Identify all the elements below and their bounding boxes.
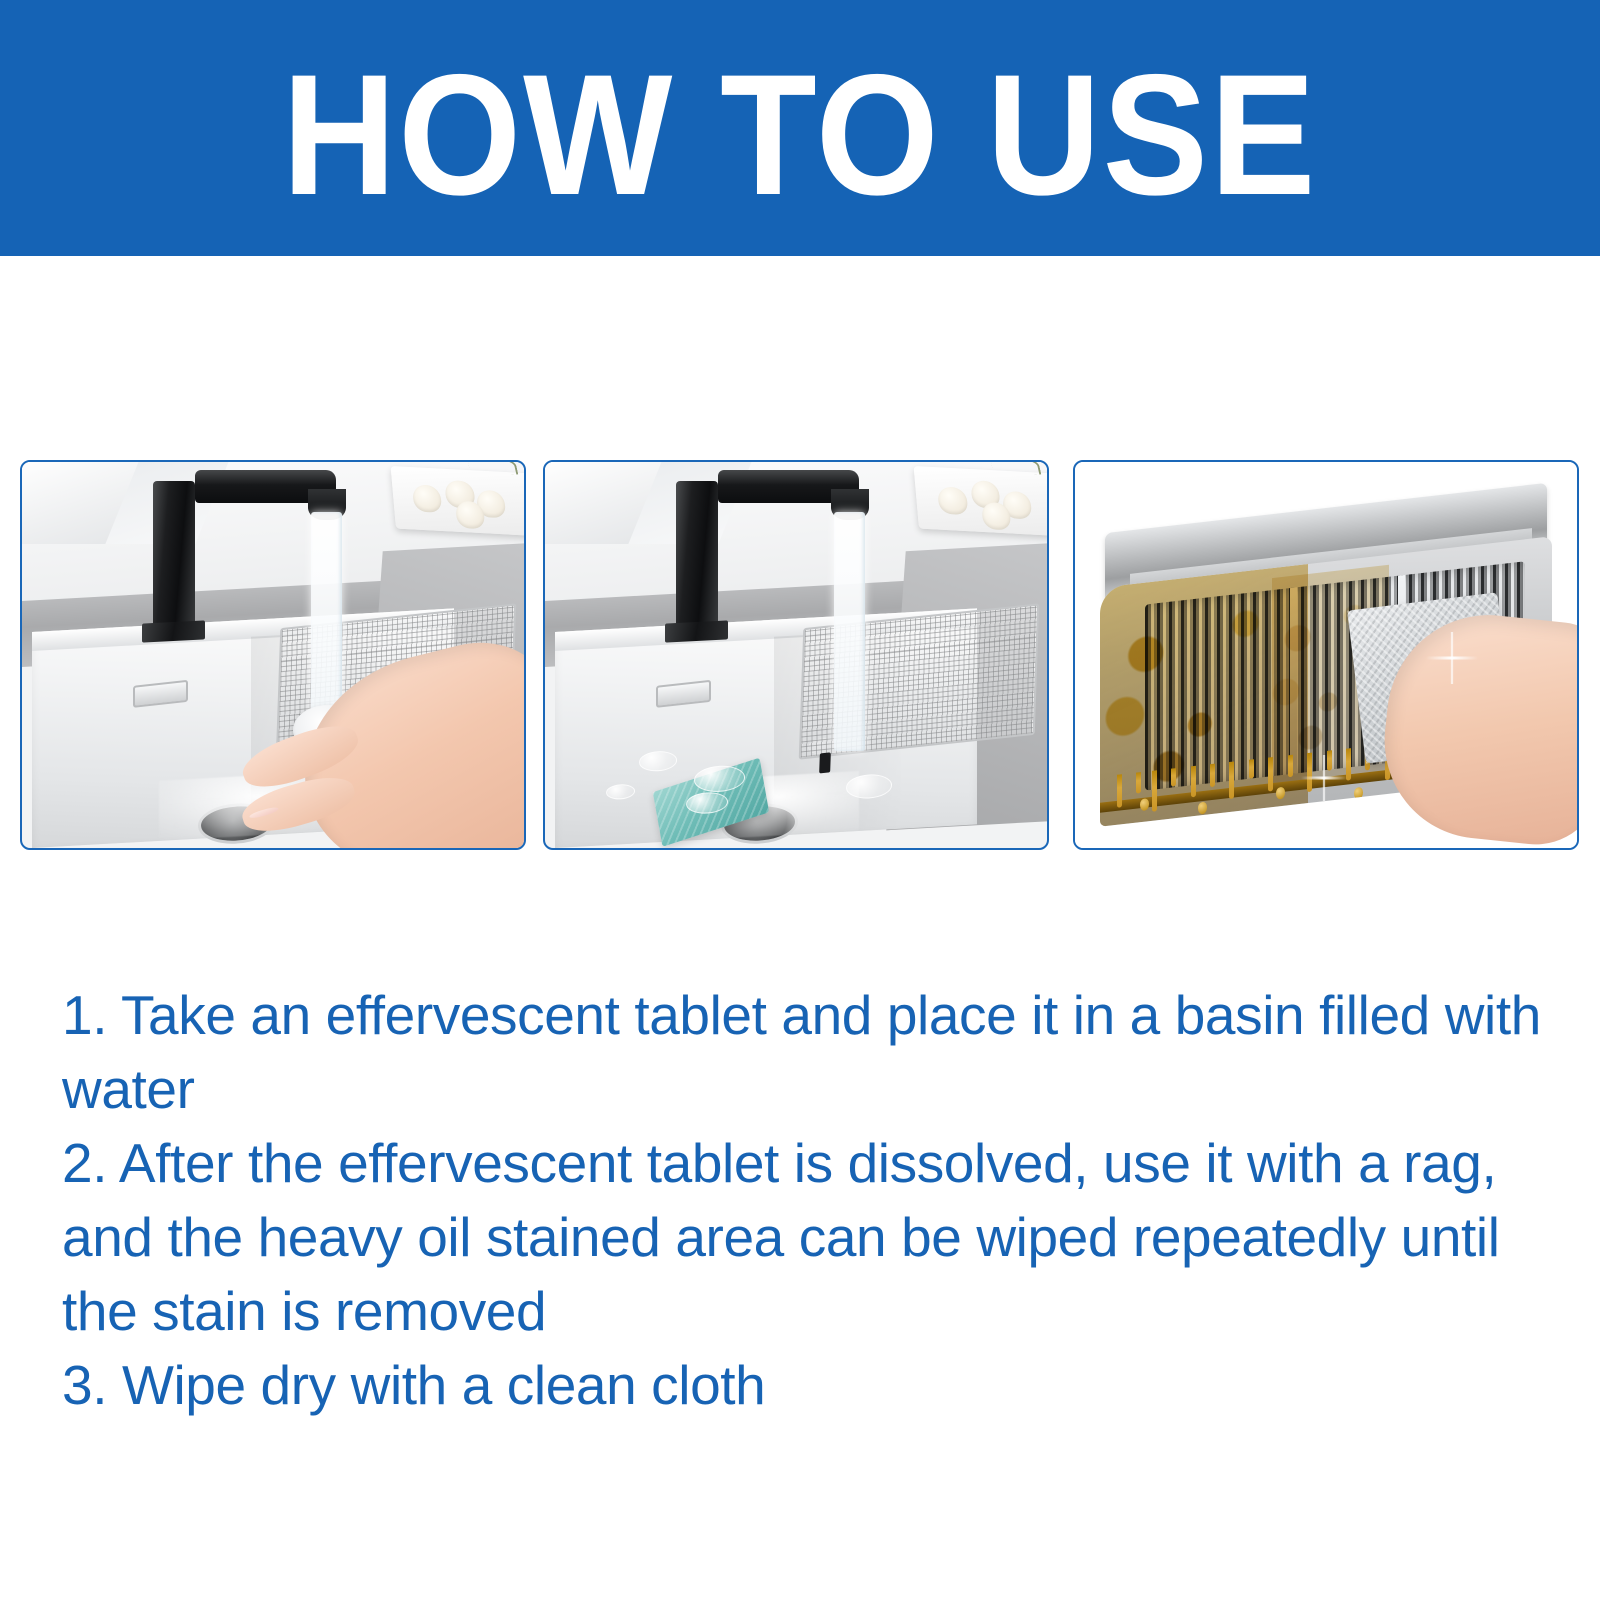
oil-drip xyxy=(1171,768,1176,786)
herb-garnish xyxy=(991,462,1042,478)
instruction-step-1: 1. Take an effervescent tablet and place… xyxy=(62,978,1542,1126)
header-banner: HOW TO USE xyxy=(0,0,1600,256)
sink-scene-1 xyxy=(22,462,524,848)
oil-drip xyxy=(1249,760,1254,780)
oil-bead xyxy=(1354,787,1363,800)
range-hood-scene xyxy=(1075,462,1577,848)
oil-drip xyxy=(1136,772,1141,794)
sink-accessory-slot xyxy=(133,680,188,708)
oil-drip xyxy=(1191,766,1196,797)
faucet-column xyxy=(676,481,719,635)
instruction-step-2: 2. After the effervescent tablet is diss… xyxy=(62,1126,1542,1348)
infographic-page: HOW TO USE xyxy=(0,0,1600,1600)
oil-drip xyxy=(1307,753,1312,793)
dumpling xyxy=(938,486,968,515)
faucet-column xyxy=(153,481,196,635)
step-3-photo-panel xyxy=(1073,460,1579,850)
bubble xyxy=(639,750,677,772)
oil-bead xyxy=(1276,787,1285,800)
plate-of-dumplings xyxy=(391,466,524,536)
oil-drip xyxy=(1346,749,1351,781)
dumpling xyxy=(412,484,442,513)
faucet-base xyxy=(142,621,205,644)
oil-drip xyxy=(1288,755,1293,778)
faucet-base xyxy=(665,621,728,644)
plate-of-dumplings xyxy=(914,466,1047,536)
step-1-photo-panel xyxy=(20,460,526,850)
oil-drip xyxy=(1327,751,1332,772)
instructions-block: 1. Take an effervescent tablet and place… xyxy=(62,978,1542,1422)
water-stream xyxy=(834,512,865,751)
fingernail xyxy=(249,805,280,820)
oil-drip xyxy=(1230,762,1235,799)
basket-clip xyxy=(819,752,831,774)
bubble xyxy=(606,783,636,800)
sink-scene-2 xyxy=(545,462,1047,848)
herb-garnish xyxy=(468,462,519,478)
step-2-photo-panel xyxy=(543,460,1049,850)
oil-bead xyxy=(1198,802,1207,815)
oil-drip xyxy=(1210,764,1215,788)
page-title: HOW TO USE xyxy=(282,44,1317,213)
oil-drip xyxy=(1152,771,1157,813)
sink-accessory-slot xyxy=(656,680,711,708)
oil-drip xyxy=(1268,757,1273,791)
oil-drip xyxy=(1117,775,1122,808)
photo-panel-row xyxy=(0,460,1600,850)
instruction-step-3: 3. Wipe dry with a clean cloth xyxy=(62,1348,1542,1422)
oil-bead xyxy=(1140,799,1149,812)
